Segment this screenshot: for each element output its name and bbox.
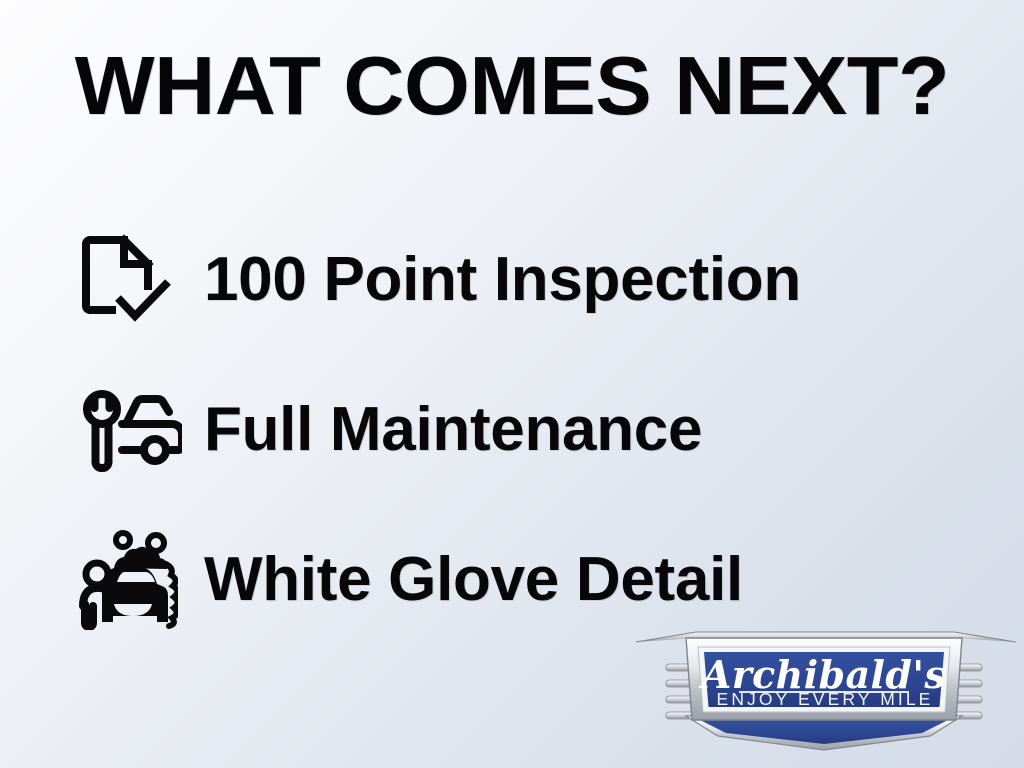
slide-canvas: WHAT COMES NEXT? [0,0,1024,768]
feature-list: 100 Point Inspection [74,205,994,655]
document-check-icon [74,232,186,328]
feature-row: 100 Point Inspection [74,205,994,355]
wrench-car-icon [74,386,186,474]
logo-tagline: ENJOY EVERY MILE [717,689,934,709]
feature-label: White Glove Detail [204,549,743,611]
logo-chevron [686,716,962,750]
feature-label: Full Maintenance [204,399,702,461]
dealer-logo: Archibald's ENJOY EVERY MILE [624,616,1024,764]
feature-label: 100 Point Inspection [204,249,801,311]
feature-row: Full Maintenance [74,355,994,505]
page-title: WHAT COMES NEXT? [0,44,1024,127]
car-wash-icon [74,530,186,630]
